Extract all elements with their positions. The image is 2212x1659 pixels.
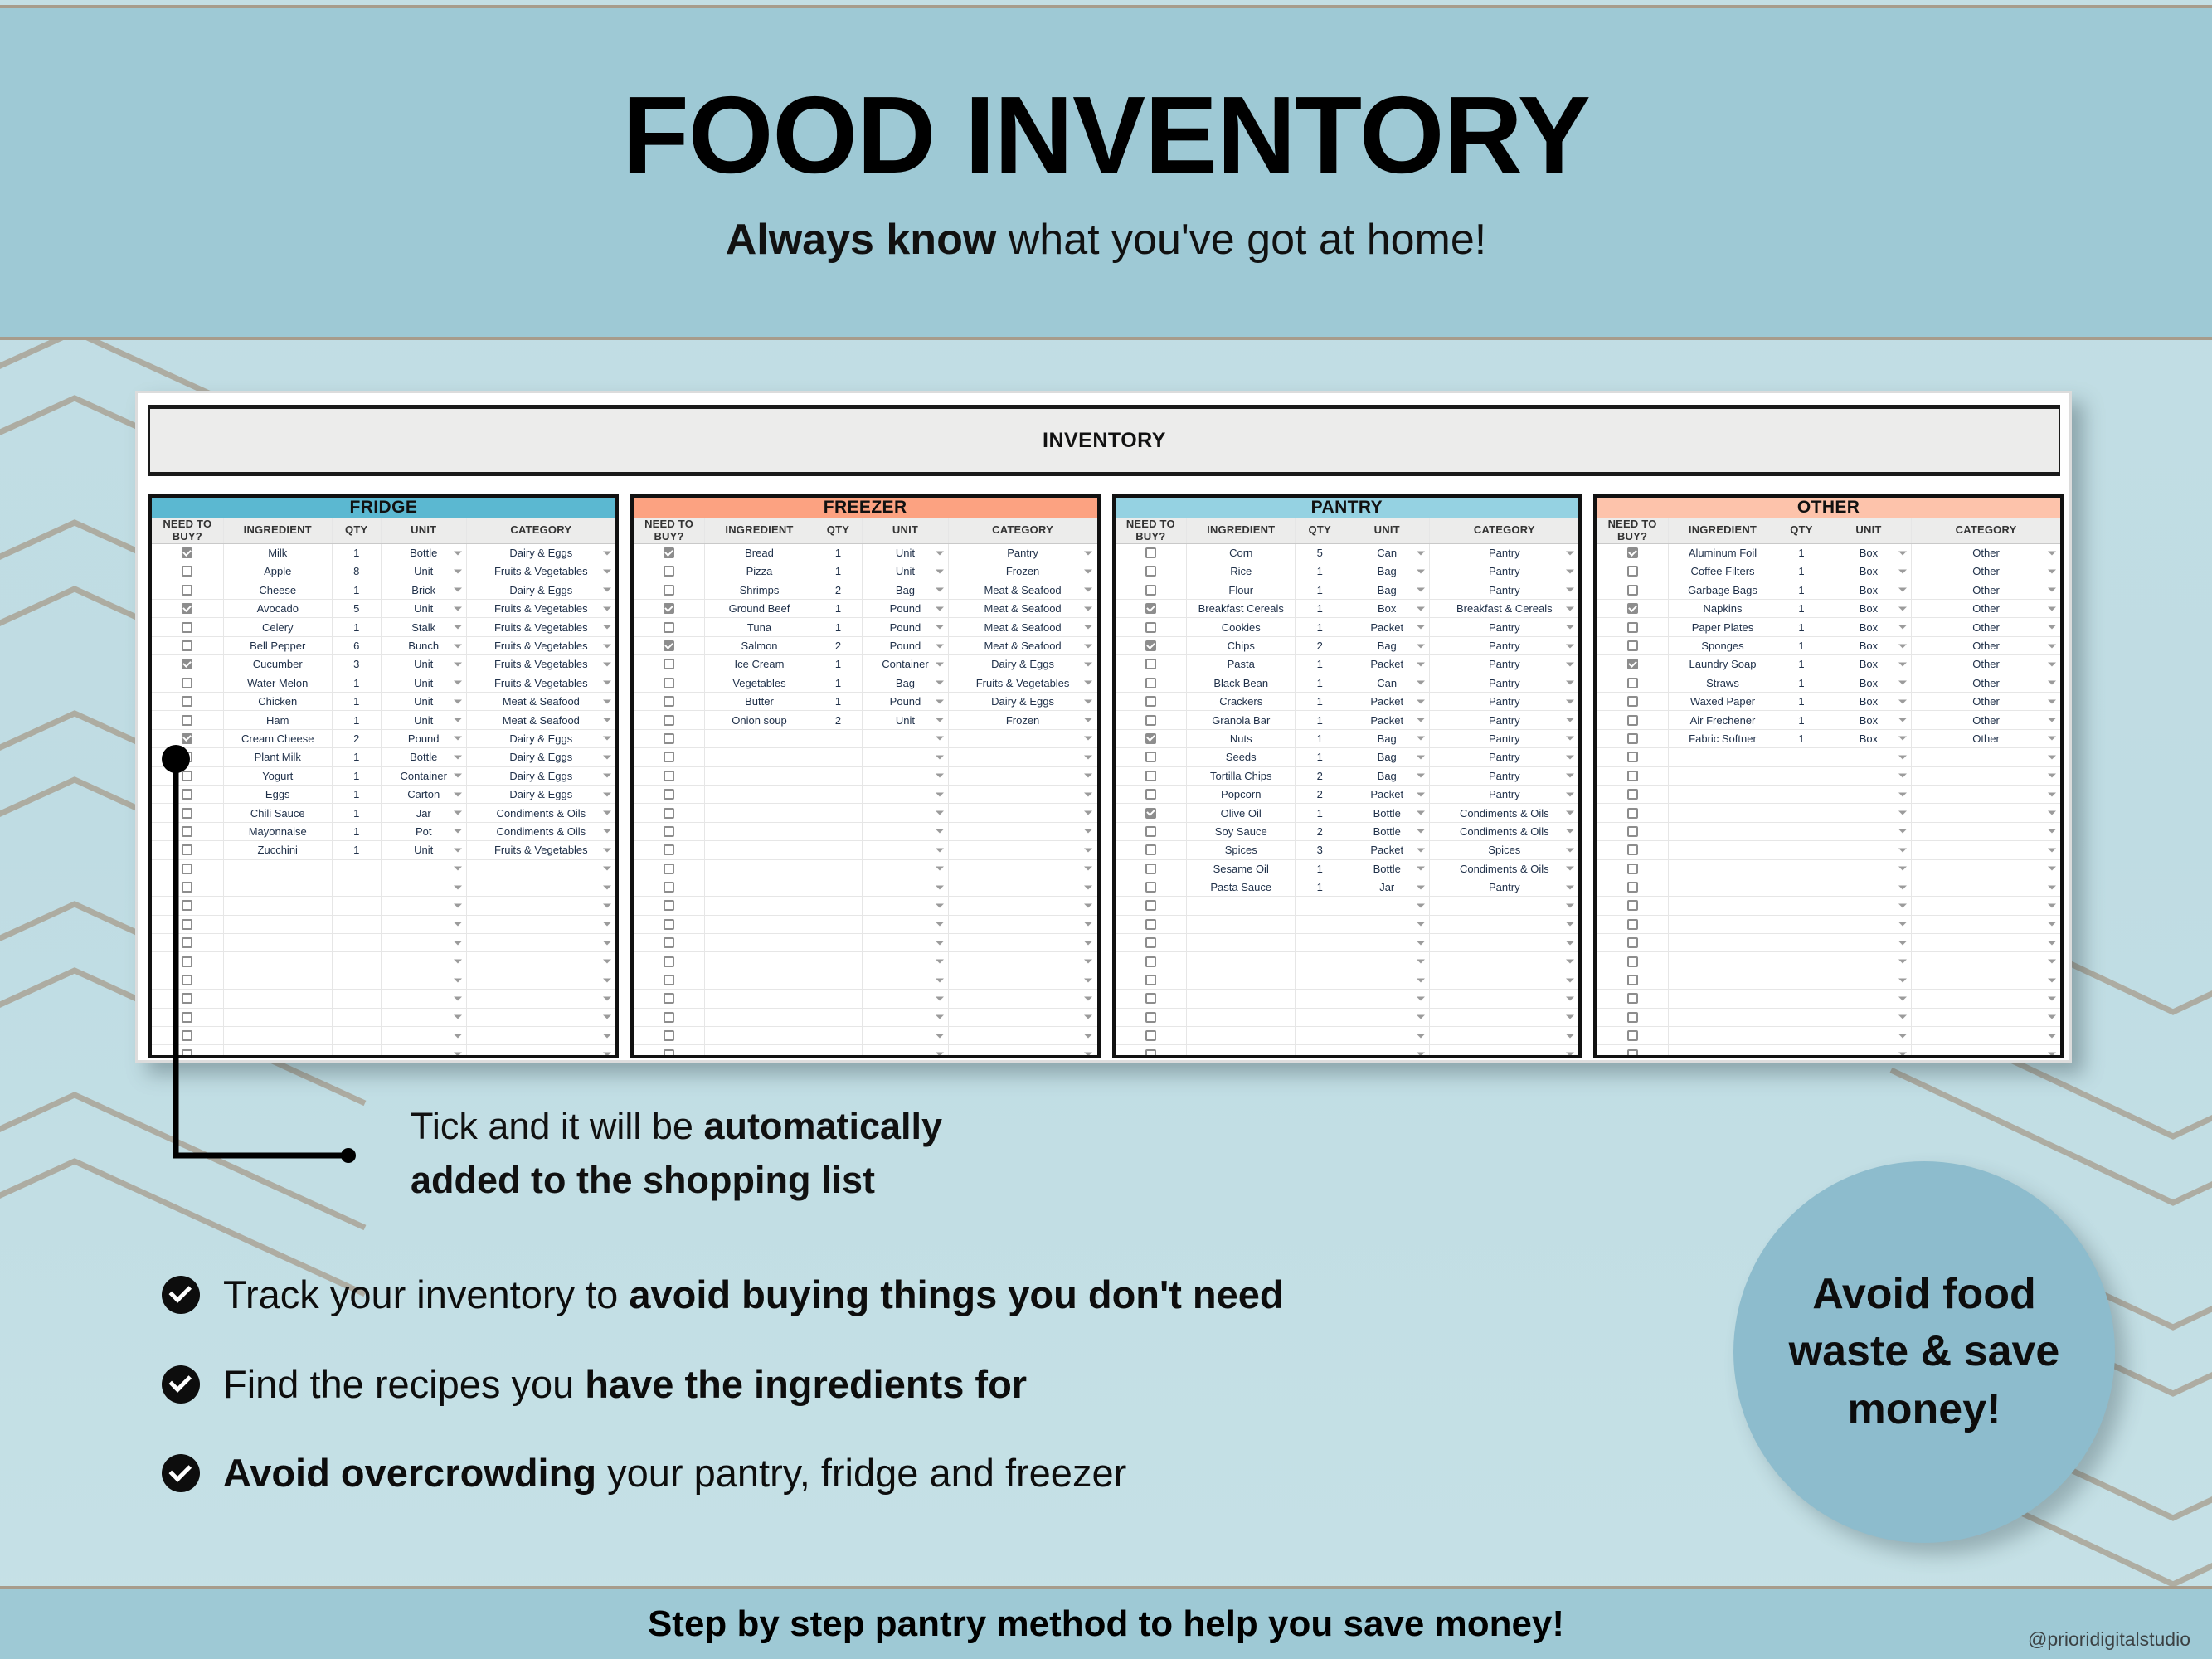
need-to-buy-cell[interactable] [1597,600,1669,617]
need-to-buy-cell[interactable] [1116,952,1188,970]
category-cell[interactable]: Pantry [1430,730,1578,747]
category-cell[interactable] [467,934,615,951]
checkbox-icon[interactable] [1145,696,1156,707]
chevron-down-icon[interactable] [1898,1034,1907,1038]
category-cell[interactable]: Other [1912,655,2060,673]
checkbox-icon[interactable] [664,1030,674,1041]
category-cell[interactable] [949,990,1097,1007]
chevron-down-icon[interactable] [1898,903,1907,907]
need-to-buy-cell[interactable] [1597,841,1669,859]
need-to-buy-cell[interactable] [152,860,224,878]
unit-cell[interactable]: Can [1344,674,1430,692]
need-to-buy-cell[interactable] [1597,748,1669,766]
category-cell[interactable]: Condiments & Oils [1430,804,1578,821]
need-to-buy-cell[interactable] [634,600,706,617]
category-cell[interactable]: Other [1912,562,2060,580]
unit-cell[interactable] [863,934,948,951]
checkbox-icon[interactable] [1145,659,1156,669]
category-cell[interactable]: Meat & Seafood [949,600,1097,617]
need-to-buy-cell[interactable] [634,581,706,599]
need-to-buy-cell[interactable] [152,878,224,896]
unit-cell[interactable] [1826,786,1912,803]
need-to-buy-cell[interactable] [634,674,706,692]
checkbox-icon[interactable] [1627,1049,1638,1058]
checkbox-icon[interactable] [182,993,192,1004]
checkbox-icon[interactable] [1627,1012,1638,1023]
chevron-down-icon[interactable] [1898,811,1907,815]
unit-cell[interactable]: Packet [1344,693,1430,710]
chevron-down-icon[interactable] [1084,792,1092,796]
chevron-down-icon[interactable] [936,737,944,741]
checkbox-icon[interactable] [1627,937,1638,948]
checkbox-icon[interactable] [182,789,192,800]
need-to-buy-cell[interactable] [1116,1009,1188,1026]
chevron-down-icon[interactable] [603,922,611,927]
checkbox-icon[interactable] [664,937,674,948]
chevron-down-icon[interactable] [1084,606,1092,611]
category-cell[interactable] [949,823,1097,840]
checkbox-icon[interactable] [182,771,192,781]
category-cell[interactable]: Dairy & Eggs [467,748,615,766]
checkbox-icon[interactable] [182,956,192,967]
checkbox-checked-icon[interactable] [1145,808,1156,819]
checkbox-icon[interactable] [1145,993,1156,1004]
chevron-down-icon[interactable] [1084,867,1092,871]
need-to-buy-cell[interactable] [1116,693,1188,710]
chevron-down-icon[interactable] [603,569,611,573]
chevron-down-icon[interactable] [1898,1015,1907,1019]
chevron-down-icon[interactable] [1417,588,1425,592]
chevron-down-icon[interactable] [1084,625,1092,630]
chevron-down-icon[interactable] [1566,699,1574,703]
chevron-down-icon[interactable] [1566,644,1574,648]
checkbox-icon[interactable] [182,808,192,819]
unit-cell[interactable] [863,897,948,914]
need-to-buy-cell[interactable] [152,748,224,766]
chevron-down-icon[interactable] [1566,588,1574,592]
chevron-down-icon[interactable] [1417,737,1425,741]
unit-cell[interactable] [863,1045,948,1058]
chevron-down-icon[interactable] [936,885,944,889]
checkbox-icon[interactable] [664,752,674,762]
checkbox-checked-icon[interactable] [182,733,192,744]
need-to-buy-cell[interactable] [1597,971,1669,989]
category-cell[interactable] [467,1027,615,1044]
checkbox-icon[interactable] [182,585,192,596]
unit-cell[interactable]: Box [1826,655,1912,673]
unit-cell[interactable] [1826,916,1912,933]
checkbox-checked-icon[interactable] [182,659,192,669]
unit-cell[interactable] [863,916,948,933]
checkbox-icon[interactable] [664,789,674,800]
category-cell[interactable] [1912,804,2060,821]
category-cell[interactable] [949,1027,1097,1044]
category-cell[interactable] [949,767,1097,785]
chevron-down-icon[interactable] [1084,960,1092,964]
chevron-down-icon[interactable] [936,699,944,703]
chevron-down-icon[interactable] [454,811,462,815]
checkbox-checked-icon[interactable] [1145,640,1156,651]
checkbox-icon[interactable] [1145,844,1156,855]
checkbox-icon[interactable] [1627,771,1638,781]
need-to-buy-cell[interactable] [152,674,224,692]
chevron-down-icon[interactable] [1084,903,1092,907]
chevron-down-icon[interactable] [1898,569,1907,573]
chevron-down-icon[interactable] [1417,978,1425,982]
chevron-down-icon[interactable] [1084,569,1092,573]
checkbox-icon[interactable] [664,975,674,985]
unit-cell[interactable]: Pound [863,600,948,617]
unit-cell[interactable]: Box [1826,637,1912,654]
need-to-buy-cell[interactable] [152,1027,224,1044]
need-to-buy-cell[interactable] [634,711,706,728]
unit-cell[interactable] [1344,1009,1430,1026]
chevron-down-icon[interactable] [2048,551,2056,555]
checkbox-checked-icon[interactable] [1627,603,1638,614]
chevron-down-icon[interactable] [1417,644,1425,648]
need-to-buy-cell[interactable] [1597,767,1669,785]
chevron-down-icon[interactable] [454,1053,462,1057]
checkbox-icon[interactable] [1627,678,1638,688]
checkbox-icon[interactable] [1627,752,1638,762]
need-to-buy-cell[interactable] [634,971,706,989]
need-to-buy-cell[interactable] [152,1045,224,1058]
category-cell[interactable] [467,897,615,914]
checkbox-icon[interactable] [1145,937,1156,948]
category-cell[interactable] [949,730,1097,747]
chevron-down-icon[interactable] [1898,792,1907,796]
need-to-buy-cell[interactable] [1116,878,1188,896]
checkbox-icon[interactable] [182,1049,192,1058]
chevron-down-icon[interactable] [936,774,944,778]
checkbox-icon[interactable] [1627,993,1638,1004]
need-to-buy-cell[interactable] [1116,841,1188,859]
chevron-down-icon[interactable] [603,1015,611,1019]
checkbox-icon[interactable] [182,752,192,762]
chevron-down-icon[interactable] [454,718,462,722]
category-cell[interactable] [1912,860,2060,878]
unit-cell[interactable]: Bag [1344,637,1430,654]
category-cell[interactable] [1430,971,1578,989]
chevron-down-icon[interactable] [603,996,611,1000]
chevron-down-icon[interactable] [2048,996,2056,1000]
checkbox-icon[interactable] [1145,882,1156,893]
checkbox-icon[interactable] [1145,956,1156,967]
chevron-down-icon[interactable] [1417,718,1425,722]
need-to-buy-cell[interactable] [1116,655,1188,673]
need-to-buy-cell[interactable] [634,730,706,747]
checkbox-icon[interactable] [1145,547,1156,558]
checkbox-icon[interactable] [1627,1030,1638,1041]
chevron-down-icon[interactable] [1898,941,1907,945]
chevron-down-icon[interactable] [2048,606,2056,611]
chevron-down-icon[interactable] [2048,885,2056,889]
chevron-down-icon[interactable] [603,588,611,592]
need-to-buy-cell[interactable] [634,916,706,933]
unit-cell[interactable]: Brick [382,581,467,599]
chevron-down-icon[interactable] [454,737,462,741]
checkbox-checked-icon[interactable] [1145,733,1156,744]
category-cell[interactable] [1912,971,2060,989]
checkbox-icon[interactable] [1145,789,1156,800]
category-cell[interactable] [949,860,1097,878]
chevron-down-icon[interactable] [1566,867,1574,871]
checkbox-checked-icon[interactable] [182,547,192,558]
category-cell[interactable] [949,878,1097,896]
category-cell[interactable] [949,916,1097,933]
chevron-down-icon[interactable] [603,792,611,796]
checkbox-icon[interactable] [1627,826,1638,837]
need-to-buy-cell[interactable] [152,730,224,747]
need-to-buy-cell[interactable] [1597,934,1669,951]
need-to-buy-cell[interactable] [1597,860,1669,878]
checkbox-icon[interactable] [182,696,192,707]
chevron-down-icon[interactable] [603,737,611,741]
checkbox-icon[interactable] [664,900,674,911]
checkbox-icon[interactable] [1145,826,1156,837]
chevron-down-icon[interactable] [454,867,462,871]
chevron-down-icon[interactable] [1898,774,1907,778]
unit-cell[interactable]: Box [1826,581,1912,599]
category-cell[interactable] [1912,916,2060,933]
unit-cell[interactable]: Bottle [1344,823,1430,840]
chevron-down-icon[interactable] [454,551,462,555]
category-cell[interactable]: Pantry [1430,581,1578,599]
category-cell[interactable]: Other [1912,618,2060,635]
unit-cell[interactable]: Bottle [1344,804,1430,821]
category-cell[interactable]: Fruits & Vegetables [949,674,1097,692]
chevron-down-icon[interactable] [936,867,944,871]
unit-cell[interactable] [1344,1045,1430,1058]
category-cell[interactable]: Condiments & Oils [467,823,615,840]
chevron-down-icon[interactable] [936,755,944,759]
category-cell[interactable]: Pantry [1430,711,1578,728]
chevron-down-icon[interactable] [603,811,611,815]
chevron-down-icon[interactable] [1566,1034,1574,1038]
unit-cell[interactable] [382,971,467,989]
chevron-down-icon[interactable] [2048,662,2056,666]
chevron-down-icon[interactable] [1566,792,1574,796]
chevron-down-icon[interactable] [1084,737,1092,741]
chevron-down-icon[interactable] [1084,996,1092,1000]
unit-cell[interactable] [1344,934,1430,951]
category-cell[interactable] [1430,934,1578,951]
chevron-down-icon[interactable] [1566,755,1574,759]
chevron-down-icon[interactable] [1898,829,1907,834]
chevron-down-icon[interactable] [454,922,462,927]
chevron-down-icon[interactable] [2048,829,2056,834]
checkbox-icon[interactable] [182,640,192,651]
chevron-down-icon[interactable] [2048,811,2056,815]
unit-cell[interactable]: Container [863,655,948,673]
need-to-buy-cell[interactable] [1116,562,1188,580]
chevron-down-icon[interactable] [1417,1015,1425,1019]
checkbox-icon[interactable] [182,715,192,726]
chevron-down-icon[interactable] [2048,941,2056,945]
need-to-buy-cell[interactable] [152,637,224,654]
chevron-down-icon[interactable] [1417,662,1425,666]
chevron-down-icon[interactable] [2048,1053,2056,1057]
chevron-down-icon[interactable] [454,606,462,611]
chevron-down-icon[interactable] [2048,922,2056,927]
category-cell[interactable]: Dairy & Eggs [949,655,1097,673]
checkbox-icon[interactable] [664,622,674,633]
need-to-buy-cell[interactable] [634,1009,706,1026]
unit-cell[interactable] [1344,971,1430,989]
chevron-down-icon[interactable] [2048,1034,2056,1038]
chevron-down-icon[interactable] [1417,1053,1425,1057]
category-cell[interactable]: Meat & Seafood [949,637,1097,654]
chevron-down-icon[interactable] [1084,941,1092,945]
chevron-down-icon[interactable] [603,960,611,964]
chevron-down-icon[interactable] [2048,588,2056,592]
unit-cell[interactable]: Box [1826,674,1912,692]
category-cell[interactable]: Pantry [1430,878,1578,896]
need-to-buy-cell[interactable] [634,637,706,654]
unit-cell[interactable] [863,804,948,821]
need-to-buy-cell[interactable] [1116,618,1188,635]
unit-cell[interactable] [1826,748,1912,766]
need-to-buy-cell[interactable] [152,767,224,785]
checkbox-icon[interactable] [664,1049,674,1058]
chevron-down-icon[interactable] [1566,1053,1574,1057]
need-to-buy-cell[interactable] [1597,804,1669,821]
category-cell[interactable] [1430,916,1578,933]
category-cell[interactable]: Dairy & Eggs [949,693,1097,710]
checkbox-icon[interactable] [182,1012,192,1023]
unit-cell[interactable]: Jar [1344,878,1430,896]
need-to-buy-cell[interactable] [1116,786,1188,803]
category-cell[interactable]: Other [1912,581,2060,599]
checkbox-icon[interactable] [664,659,674,669]
chevron-down-icon[interactable] [1566,960,1574,964]
category-cell[interactable] [1912,748,2060,766]
category-cell[interactable]: Meat & Seafood [467,711,615,728]
need-to-buy-cell[interactable] [152,655,224,673]
category-cell[interactable]: Dairy & Eggs [467,786,615,803]
need-to-buy-cell[interactable] [634,786,706,803]
unit-cell[interactable] [382,990,467,1007]
chevron-down-icon[interactable] [1084,718,1092,722]
checkbox-icon[interactable] [1145,678,1156,688]
checkbox-icon[interactable] [664,715,674,726]
unit-cell[interactable]: Bag [1344,730,1430,747]
category-cell[interactable] [949,786,1097,803]
chevron-down-icon[interactable] [1084,1053,1092,1057]
need-to-buy-cell[interactable] [1116,916,1188,933]
checkbox-icon[interactable] [1627,715,1638,726]
chevron-down-icon[interactable] [936,996,944,1000]
chevron-down-icon[interactable] [454,588,462,592]
chevron-down-icon[interactable] [454,662,462,666]
unit-cell[interactable]: Packet [1344,618,1430,635]
chevron-down-icon[interactable] [454,996,462,1000]
unit-cell[interactable]: Pound [863,618,948,635]
need-to-buy-cell[interactable] [1116,934,1188,951]
checkbox-checked-icon[interactable] [1627,547,1638,558]
checkbox-icon[interactable] [664,864,674,874]
need-to-buy-cell[interactable] [634,878,706,896]
need-to-buy-cell[interactable] [1597,730,1669,747]
checkbox-icon[interactable] [664,956,674,967]
category-cell[interactable]: Pantry [1430,544,1578,562]
need-to-buy-cell[interactable] [1116,990,1188,1007]
checkbox-icon[interactable] [1627,844,1638,855]
need-to-buy-cell[interactable] [1116,1027,1188,1044]
need-to-buy-cell[interactable] [152,916,224,933]
checkbox-icon[interactable] [664,678,674,688]
chevron-down-icon[interactable] [454,885,462,889]
need-to-buy-cell[interactable] [634,897,706,914]
chevron-down-icon[interactable] [2048,699,2056,703]
checkbox-icon[interactable] [664,808,674,819]
checkbox-icon[interactable] [1627,864,1638,874]
category-cell[interactable] [1430,952,1578,970]
chevron-down-icon[interactable] [936,829,944,834]
chevron-down-icon[interactable] [1084,774,1092,778]
chevron-down-icon[interactable] [1417,792,1425,796]
chevron-down-icon[interactable] [936,644,944,648]
chevron-down-icon[interactable] [2048,625,2056,630]
unit-cell[interactable]: Box [1826,562,1912,580]
category-cell[interactable]: Pantry [1430,618,1578,635]
need-to-buy-cell[interactable] [1597,878,1669,896]
chevron-down-icon[interactable] [603,867,611,871]
unit-cell[interactable]: Pot [382,823,467,840]
chevron-down-icon[interactable] [1566,625,1574,630]
unit-cell[interactable]: Bag [1344,562,1430,580]
chevron-down-icon[interactable] [1417,922,1425,927]
checkbox-icon[interactable] [1145,752,1156,762]
unit-cell[interactable]: Packet [1344,711,1430,728]
chevron-down-icon[interactable] [603,644,611,648]
checkbox-icon[interactable] [664,993,674,1004]
need-to-buy-cell[interactable] [152,562,224,580]
unit-cell[interactable]: Bag [1344,767,1430,785]
need-to-buy-cell[interactable] [152,581,224,599]
chevron-down-icon[interactable] [936,960,944,964]
chevron-down-icon[interactable] [2048,681,2056,685]
category-cell[interactable] [467,878,615,896]
category-cell[interactable]: Pantry [1430,674,1578,692]
category-cell[interactable]: Frozen [949,711,1097,728]
chevron-down-icon[interactable] [2048,960,2056,964]
unit-cell[interactable] [1826,952,1912,970]
chevron-down-icon[interactable] [1566,885,1574,889]
need-to-buy-cell[interactable] [1597,693,1669,710]
unit-cell[interactable]: Container [382,767,467,785]
checkbox-icon[interactable] [1145,1030,1156,1041]
chevron-down-icon[interactable] [1898,662,1907,666]
need-to-buy-cell[interactable] [1597,823,1669,840]
unit-cell[interactable] [863,823,948,840]
unit-cell[interactable]: Pound [863,637,948,654]
chevron-down-icon[interactable] [1084,551,1092,555]
category-cell[interactable]: Dairy & Eggs [467,544,615,562]
unit-cell[interactable]: Box [1826,711,1912,728]
category-cell[interactable]: Pantry [1430,748,1578,766]
unit-cell[interactable] [382,1045,467,1058]
chevron-down-icon[interactable] [1898,699,1907,703]
need-to-buy-cell[interactable] [634,544,706,562]
need-to-buy-cell[interactable] [1116,637,1188,654]
need-to-buy-cell[interactable] [1116,674,1188,692]
unit-cell[interactable]: Stalk [382,618,467,635]
unit-cell[interactable] [1344,916,1430,933]
chevron-down-icon[interactable] [454,569,462,573]
chevron-down-icon[interactable] [2048,903,2056,907]
unit-cell[interactable] [1826,971,1912,989]
